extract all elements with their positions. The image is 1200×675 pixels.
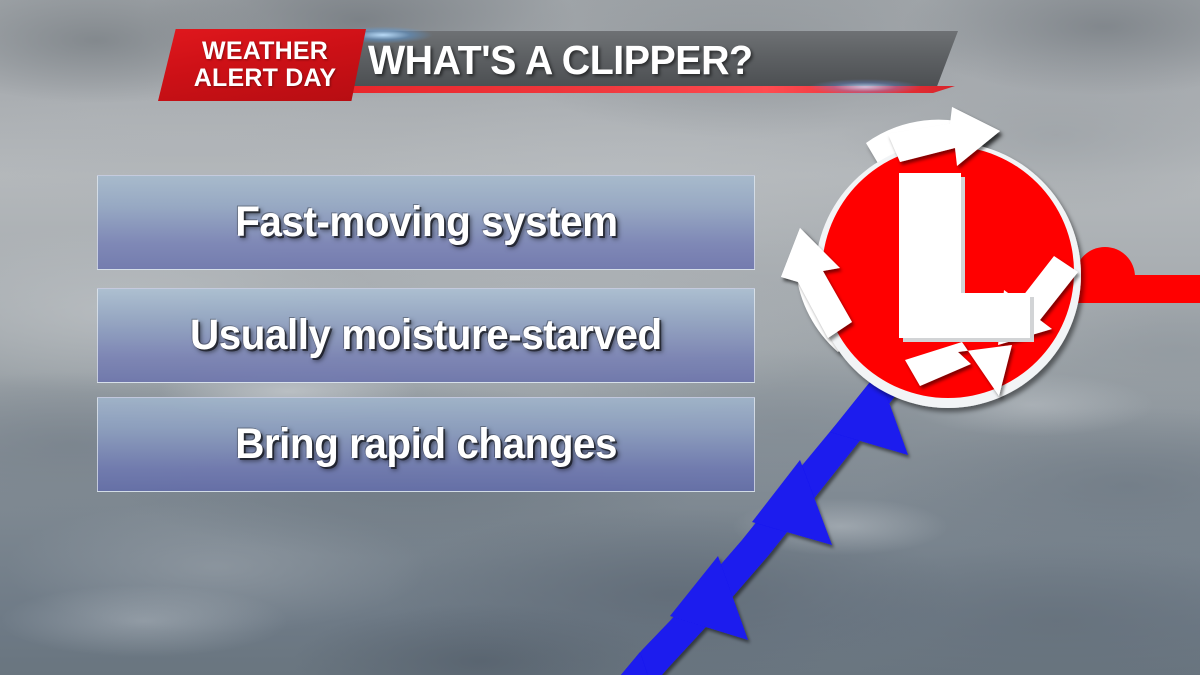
- weather-graphic-slide: Fast-moving system Usually moisture-star…: [0, 0, 1200, 675]
- alert-badge-line-1: WEATHER: [202, 39, 328, 65]
- bullet-text-1: Fast-moving system: [235, 198, 617, 247]
- bullet-text-3: Bring rapid changes: [235, 420, 617, 469]
- header: WHAT'S A CLIPPER? WEATHER ALERT DAY: [0, 0, 1200, 130]
- bullet-bar-3: Bring rapid changes: [97, 397, 755, 492]
- bullet-text-2: Usually moisture-starved: [190, 311, 662, 360]
- page-title: WHAT'S A CLIPPER?: [368, 33, 753, 87]
- bullet-bar-2: Usually moisture-starved: [97, 288, 755, 383]
- alert-badge-line-2: ALERT DAY: [194, 66, 337, 92]
- title-accent-stripe: [327, 86, 955, 93]
- bullet-bar-1: Fast-moving system: [97, 175, 755, 270]
- weather-alert-day-badge: WEATHER ALERT DAY: [158, 29, 366, 101]
